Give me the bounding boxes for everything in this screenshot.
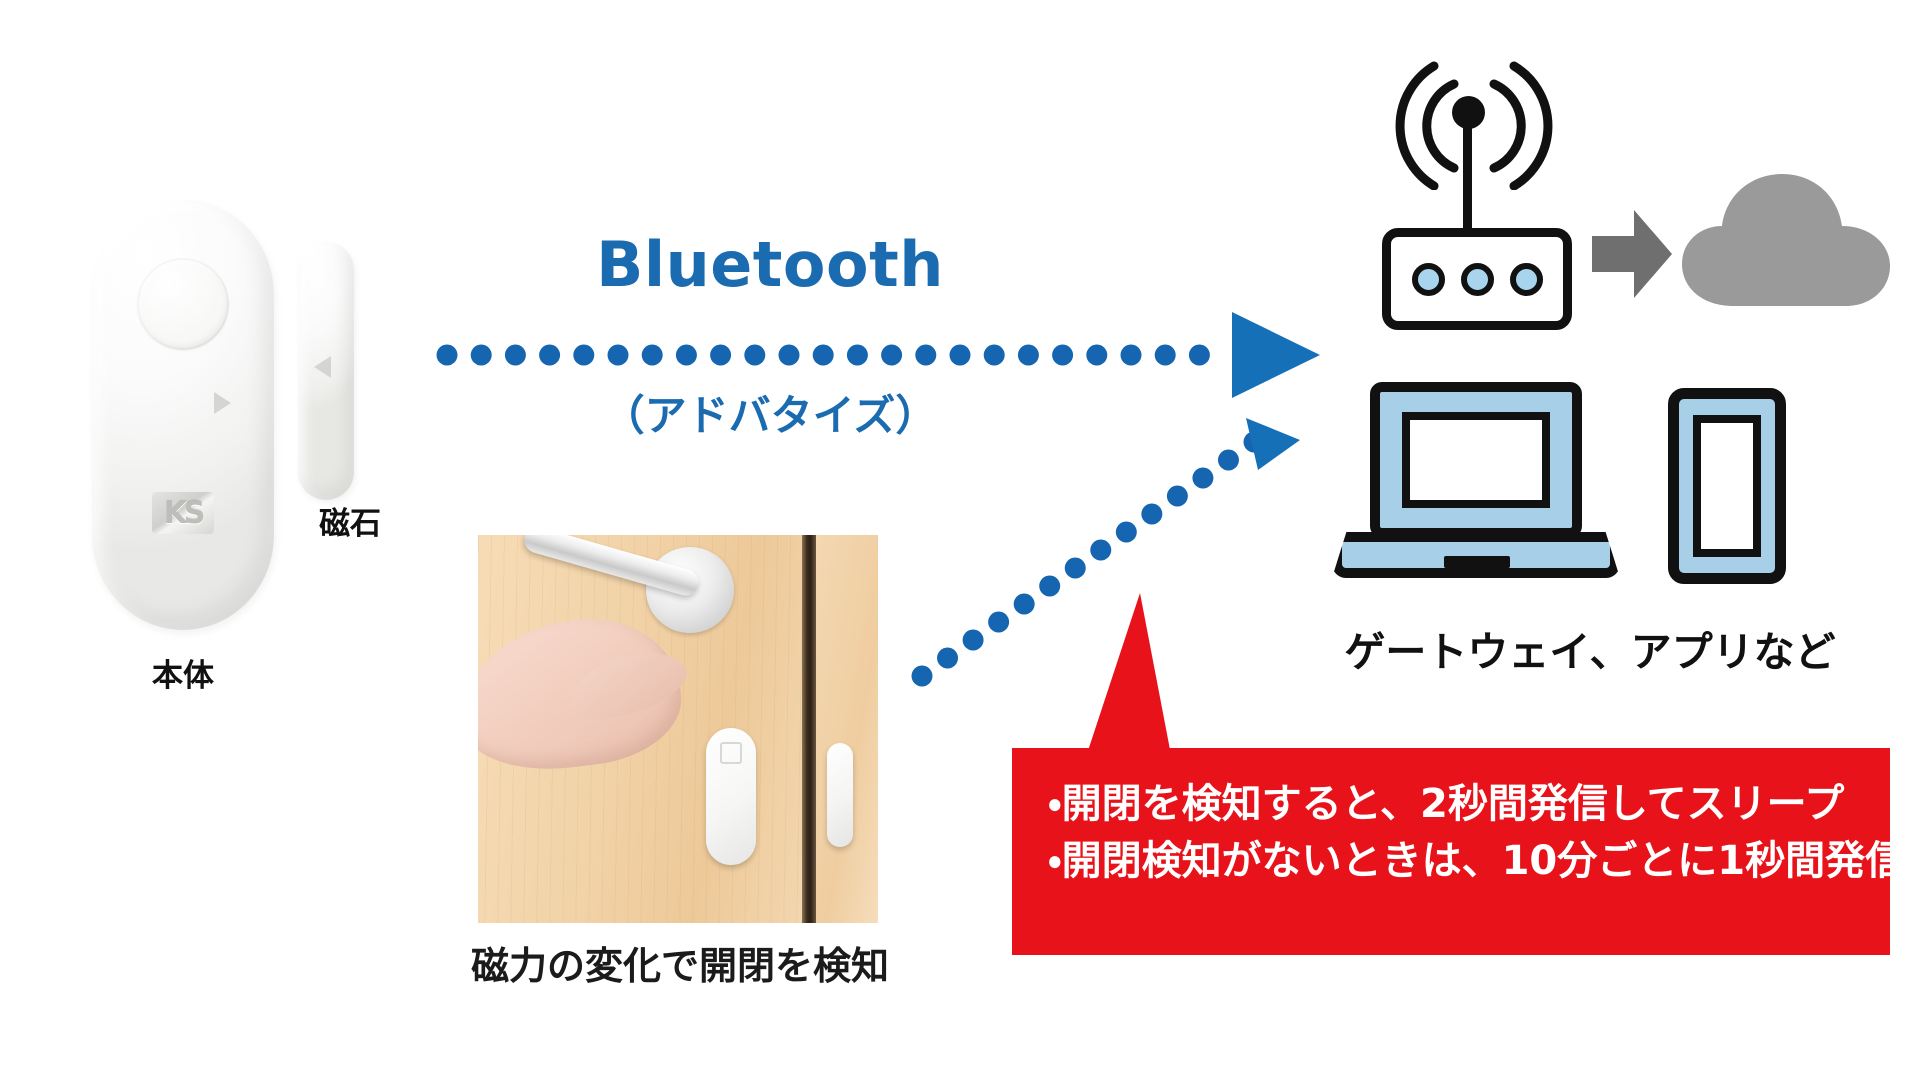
magnet-bar [298, 242, 354, 500]
callout-box: ・開閉を検知すると、2秒間発信してスリープ ・開閉検知がないときは、10分ごとに… [1012, 748, 1890, 955]
router-led-3-icon [1510, 263, 1543, 296]
sensor-button [137, 258, 229, 350]
laptop-icon [1370, 382, 1582, 538]
signal-dot [539, 345, 560, 366]
door-detection-photo [478, 535, 878, 923]
laptop-base-icon [1332, 532, 1620, 578]
router-led-1-icon [1412, 263, 1445, 296]
signal-dot [1121, 345, 1142, 366]
signal-dot [915, 345, 936, 366]
mounted-sensor [706, 728, 756, 865]
callout-line-2: ・開閉検知がないときは、10分ごとに1秒間発信 [1048, 833, 1872, 890]
signal-dot [912, 666, 933, 687]
callout-text: ・開閉を検知すると、2秒間発信してスリープ ・開閉検知がないときは、10分ごとに… [1048, 776, 1872, 890]
signal-dot [710, 345, 731, 366]
signal-dot [471, 345, 492, 366]
phone-screen [1693, 415, 1761, 557]
signal-dot [1116, 522, 1137, 543]
router-icon [1382, 228, 1572, 330]
signal-dot [505, 345, 526, 366]
magnet-label: 磁石 [300, 498, 400, 543]
signal-dot [1018, 345, 1039, 366]
cloud-icon [1676, 168, 1900, 312]
door-gap [802, 535, 816, 923]
photo-caption: 磁力の変化で開閉を検知 [430, 935, 930, 990]
signal-arrowhead-primary [1232, 312, 1320, 398]
brand-logo: KS [152, 492, 214, 534]
receivers-label: ゲートウェイ、アプリなど [1310, 618, 1870, 678]
signal-dot [950, 345, 971, 366]
diagram-canvas: KS 磁石 本体 Bluetooth （アドバタイズ） 磁力の変化で開閉を検知 [0, 0, 1920, 1080]
door-frame [816, 535, 878, 923]
signal-dot [813, 345, 834, 366]
signal-dot [1244, 432, 1265, 453]
signal-dot [676, 345, 697, 366]
callout-line-1: ・開閉を検知すると、2秒間発信してスリープ [1048, 776, 1872, 833]
signal-dot [1090, 540, 1111, 561]
body-label: 本体 [95, 650, 271, 695]
signal-dot [642, 345, 663, 366]
smartphone-icon [1668, 388, 1786, 584]
antenna-waves-icon [1370, 50, 1590, 190]
signal-dot [437, 345, 458, 366]
signal-dot [1065, 558, 1086, 579]
signal-dot [1086, 345, 1107, 366]
signal-dot [573, 345, 594, 366]
door-sensor-body: KS [92, 200, 274, 630]
signal-dot [1189, 345, 1210, 366]
laptop-screen [1402, 412, 1550, 508]
router-led-2-icon [1461, 263, 1494, 296]
alignment-triangle-icon [214, 392, 231, 414]
signal-dot [881, 345, 902, 366]
signal-dot [1155, 345, 1176, 366]
signal-dot [1192, 468, 1213, 489]
mounted-magnet [827, 743, 853, 847]
magnet-alignment-triangle-icon [314, 356, 331, 378]
signal-dot [1167, 486, 1188, 507]
gray-arrow-icon [1586, 198, 1678, 310]
signal-dot [963, 630, 984, 651]
advertise-subtitle: （アドバタイズ） [560, 382, 980, 443]
bluetooth-title: Bluetooth [560, 228, 980, 301]
signal-dot [608, 345, 629, 366]
signal-dot [937, 648, 958, 669]
signal-arrowhead-secondary [1246, 418, 1300, 470]
signal-dot [1141, 504, 1162, 525]
laptop-trackpad-icon [1444, 556, 1510, 568]
signal-dot [984, 345, 1005, 366]
signal-dot [847, 345, 868, 366]
signal-dot [744, 345, 765, 366]
signal-dot [1218, 450, 1239, 471]
signal-dot [1052, 345, 1073, 366]
signal-dot [779, 345, 800, 366]
